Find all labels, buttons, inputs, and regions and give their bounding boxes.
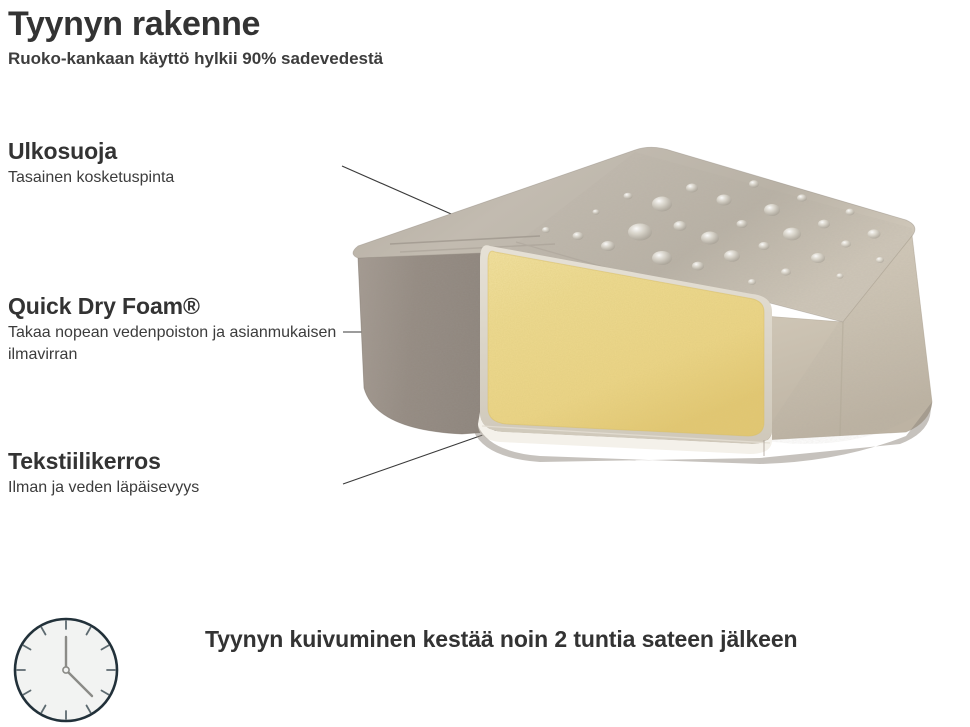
annotation-description: Tasainen kosketuspinta <box>8 167 338 188</box>
annotation-title: Quick Dry Foam® <box>8 293 338 319</box>
page-subtitle: Ruoko-kankaan käyttö hylkii 90% sadevede… <box>8 48 648 69</box>
infographic-page: Tyynyn rakenne Ruoko-kankaan käyttö hylk… <box>0 0 970 727</box>
annotation-description: Takaa nopean vedenpoiston ja asianmukais… <box>8 322 338 364</box>
header: Tyynyn rakenne Ruoko-kankaan käyttö hylk… <box>8 6 648 69</box>
footer-note: Tyynyn kuivuminen kestää noin 2 tuntia s… <box>205 624 905 655</box>
cushion-cutaway-illustration <box>340 140 960 490</box>
annotation-tekstiilikerros: Tekstiilikerros Ilman ja veden läpäisevy… <box>8 448 338 499</box>
annotation-description: Ilman ja veden läpäisevyys <box>8 477 338 498</box>
annotation-quick-dry-foam: Quick Dry Foam® Takaa nopean vedenpoisto… <box>8 293 338 365</box>
annotation-title: Ulkosuoja <box>8 138 338 164</box>
annotation-ulkosuoja: Ulkosuoja Tasainen kosketuspinta <box>8 138 338 189</box>
clock-center-pin <box>63 667 69 673</box>
page-title: Tyynyn rakenne <box>8 6 648 43</box>
footer: Tyynyn kuivuminen kestää noin 2 tuntia s… <box>0 596 970 727</box>
annotation-title: Tekstiilikerros <box>8 448 338 474</box>
clock-icon <box>10 614 122 726</box>
